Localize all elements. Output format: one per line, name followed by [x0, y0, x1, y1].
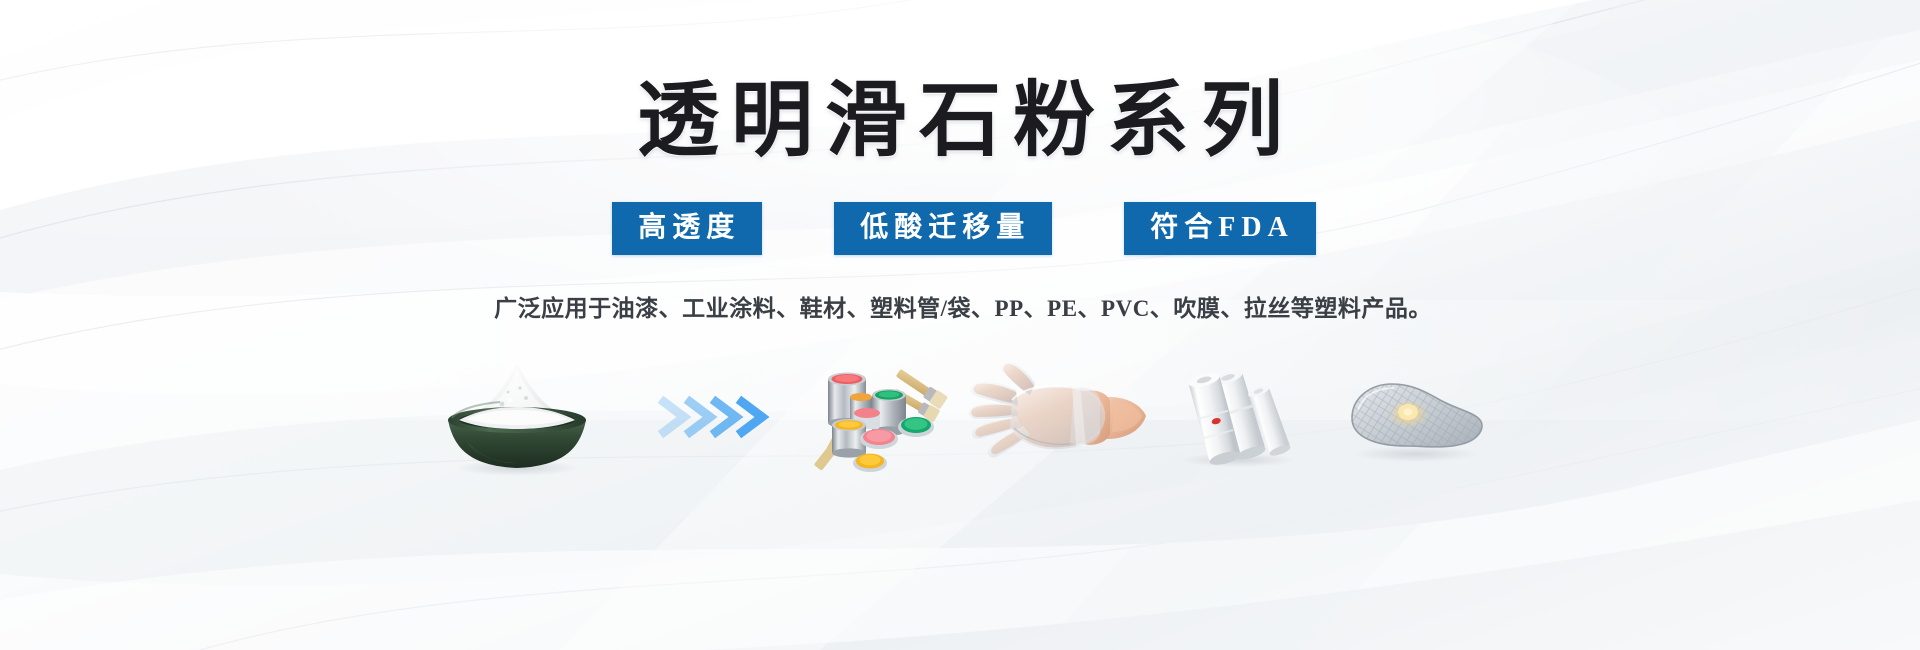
product-banner: 透明滑石粉系列 高透度 低酸迁移量 符合FDA 广泛应用于油漆、工业涂料、鞋材、…	[0, 0, 1920, 650]
plastic-film-rolls-image	[1158, 362, 1318, 472]
paint-cans-and-brushes-image	[810, 358, 950, 476]
page-title: 透明滑石粉系列	[625, 78, 1295, 164]
feature-badge-list: 高透度 低酸迁移量 符合FDA	[604, 202, 1316, 255]
chevron-arrows-icon	[656, 387, 776, 447]
gloved-hand-image	[968, 362, 1148, 472]
application-description: 广泛应用于油漆、工业涂料、鞋材、塑料管/袋、PP、PE、PVC、吹膜、拉丝等塑料…	[488, 289, 1432, 323]
banner-content: 透明滑石粉系列 高透度 低酸迁移量 符合FDA 广泛应用于油漆、工业涂料、鞋材、…	[0, 0, 1920, 650]
product-image-strip	[0, 352, 1920, 482]
feature-badge-fda-compliant: 符合FDA	[1124, 202, 1316, 255]
talc-powder-in-green-bowl-image	[422, 358, 612, 476]
shoe-sole-image	[1328, 362, 1498, 472]
feature-badge-low-acid-migration: 低酸迁移量	[834, 202, 1052, 255]
feature-badge-high-transparency: 高透度	[612, 202, 762, 255]
